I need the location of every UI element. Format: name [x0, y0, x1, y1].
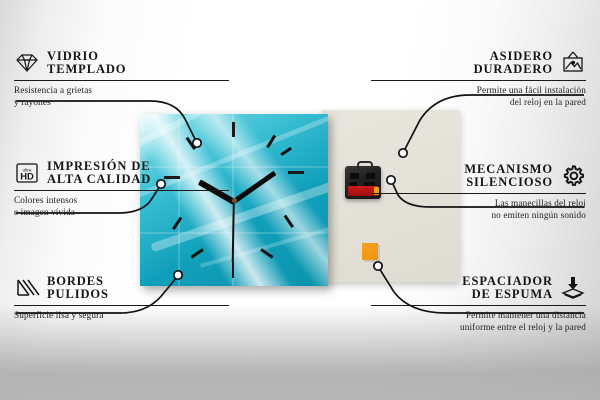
feature-title-line1: BORDES: [47, 275, 109, 288]
feature-espaciador-de-espuma: ESPACIADOR DE ESPUMA Permite mantener un…: [371, 275, 586, 333]
clock-tick: [288, 171, 304, 174]
feature-title-line1: ASIDERO: [474, 50, 553, 63]
feature-desc-line1: Permite mantener una distancia: [371, 309, 586, 321]
feature-description: Superficie lisa y segura: [14, 309, 229, 321]
hd-badge-main-text: HD: [20, 171, 34, 182]
feature-asidero-duradero: ASIDERO DURADERO Permite una fácil insta…: [371, 50, 586, 108]
divider: [14, 80, 229, 81]
feature-description: Resistencia a grietas y rayones: [14, 84, 229, 108]
feature-desc-line1: Superficie lisa y segura: [14, 309, 229, 321]
feature-title-line2: DURADERO: [474, 63, 553, 76]
feature-header: MECANISMO SILENCIOSO: [371, 163, 586, 190]
foam-spacer: [362, 243, 378, 260]
feature-title-line2: DE ESPUMA: [462, 288, 553, 301]
feature-desc-line2: y rayones: [14, 96, 229, 108]
feature-description: Permite mantener una distancia uniforme …: [371, 309, 586, 333]
feature-desc-line2: no emiten ningún sonido: [371, 209, 586, 221]
gear-icon: [560, 163, 586, 189]
clock-tick: [232, 262, 234, 278]
divider: [371, 80, 586, 81]
feature-mecanismo-silencioso: MECANISMO SILENCIOSO Las manecillas del …: [371, 163, 586, 221]
clock-tick: [190, 248, 203, 258]
feature-title-line1: VIDRIO: [47, 50, 126, 63]
feature-title-line1: IMPRESIÓN DE: [47, 160, 151, 173]
feature-title-line2: SILENCIOSO: [464, 176, 553, 189]
feature-title: VIDRIO TEMPLADO: [47, 50, 126, 77]
clock-tick: [280, 147, 291, 156]
feature-title-line1: ESPACIADOR: [462, 275, 553, 288]
feature-desc-line2: uniforme entre el reloj y la pared: [371, 321, 586, 333]
clock-tick: [232, 122, 235, 137]
feature-title-line1: MECANISMO: [464, 163, 553, 176]
feature-impresion-alta-calidad: ultra HD IMPRESIÓN DE ALTA CALIDAD Color…: [14, 160, 229, 218]
feature-title: MECANISMO SILENCIOSO: [464, 163, 553, 190]
clock-tick: [172, 217, 182, 230]
feature-header: ESPACIADOR DE ESPUMA: [371, 275, 586, 302]
feature-bordes-pulidos: BORDES PULIDOS Superficie lisa y segura: [14, 275, 229, 321]
clock-tick: [284, 215, 294, 228]
clock-center-pivot: [232, 198, 237, 203]
feature-description: Permite una fácil instalación del reloj …: [371, 84, 586, 108]
feature-header: ultra HD IMPRESIÓN DE ALTA CALIDAD: [14, 160, 229, 187]
feature-title: IMPRESIÓN DE ALTA CALIDAD: [47, 160, 151, 187]
feature-desc-line1: Permite una fácil instalación: [371, 84, 586, 96]
divider: [14, 190, 229, 191]
infographic-canvas: VIDRIO TEMPLADO Resistencia a grietas y …: [0, 0, 600, 400]
feature-vidrio-templado: VIDRIO TEMPLADO Resistencia a grietas y …: [14, 50, 229, 108]
feature-header: VIDRIO TEMPLADO: [14, 50, 229, 77]
feature-title-line2: TEMPLADO: [47, 63, 126, 76]
feature-header: ASIDERO DURADERO: [371, 50, 586, 77]
clock-tick: [260, 248, 273, 258]
divider: [14, 305, 229, 306]
feature-desc-line1: Resistencia a grietas: [14, 84, 229, 96]
feature-title: ESPACIADOR DE ESPUMA: [462, 275, 553, 302]
feature-header: BORDES PULIDOS: [14, 275, 229, 302]
feature-desc-line2: e imagen vívida: [14, 206, 229, 218]
feature-desc-line2: del reloj en la pared: [371, 96, 586, 108]
feature-description: Las manecillas del reloj no emiten ningú…: [371, 197, 586, 221]
feature-title-line2: PULIDOS: [47, 288, 109, 301]
divider: [371, 305, 586, 306]
divider: [371, 193, 586, 194]
feature-desc-line1: Las manecillas del reloj: [371, 197, 586, 209]
clock-tick: [186, 137, 196, 150]
ultra-hd-badge-icon: ultra HD: [14, 160, 40, 186]
arrow-into-layers-icon: [560, 275, 586, 301]
feature-description: Colores intensos e imagen vívida: [14, 194, 229, 218]
feature-title: BORDES PULIDOS: [47, 275, 109, 302]
diamond-icon: [14, 50, 40, 76]
feature-title-line2: ALTA CALIDAD: [47, 173, 151, 186]
feature-title: ASIDERO DURADERO: [474, 50, 553, 77]
clock-minute-hand: [233, 171, 277, 204]
polished-edges-icon: [14, 275, 40, 301]
feature-desc-line1: Colores intensos: [14, 194, 229, 206]
hanging-frame-icon: [560, 50, 586, 76]
